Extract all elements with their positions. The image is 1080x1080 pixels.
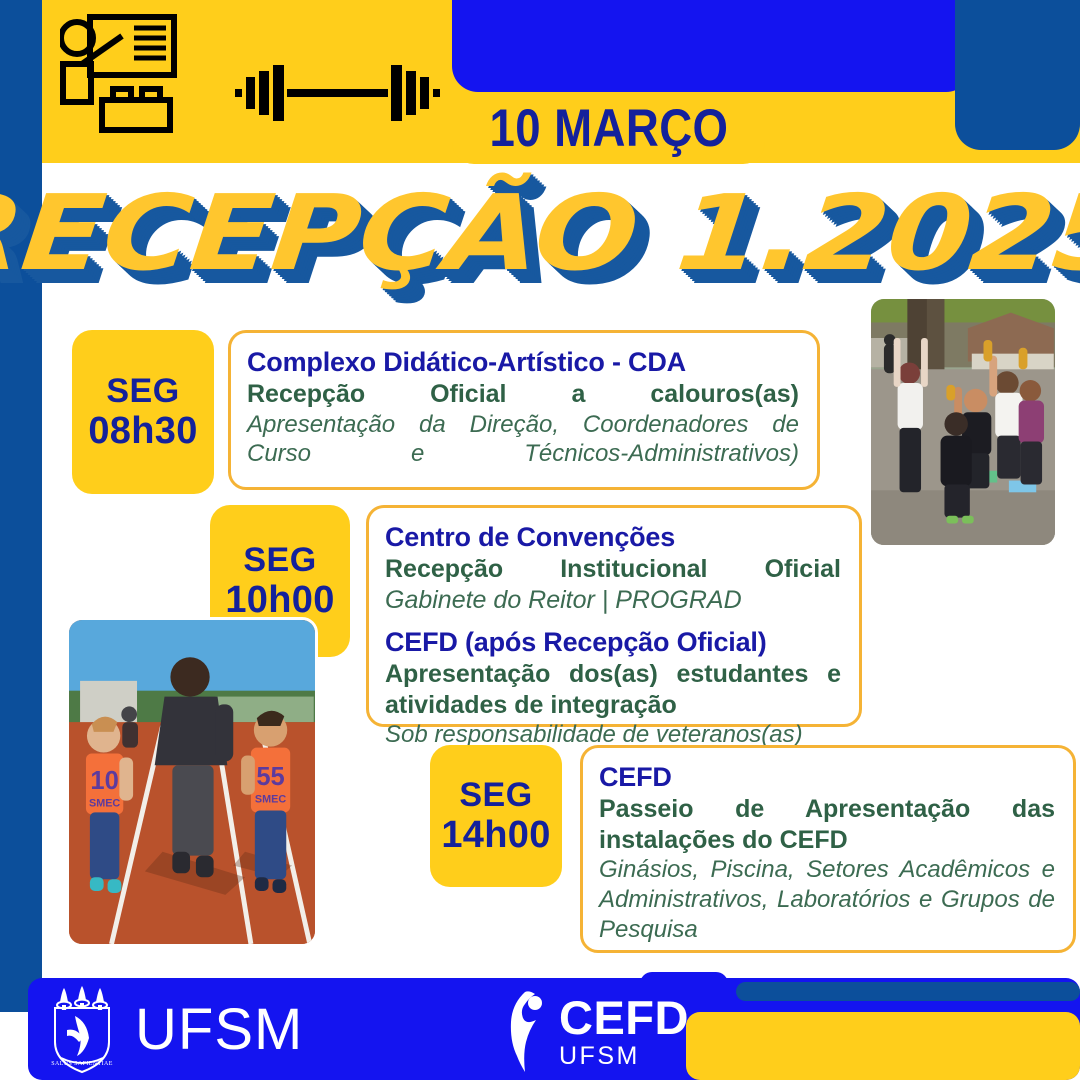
time-badge-1: SEG 08h30 (72, 330, 214, 494)
event-card-2: Centro de Convenções Recepção Institucio… (366, 505, 862, 727)
page-title: RECEPÇÃO 1.2025 (0, 172, 1080, 294)
ufsm-logo-lockup: SALUS SAPIENTIAE UFSM (45, 986, 375, 1074)
footer-dark-pill (736, 982, 1080, 1001)
card-block-divider (385, 615, 841, 627)
photo-outdoor-exercise (868, 296, 1058, 548)
poster-title-wrap: RECEPÇÃO 1.2025 (0, 172, 1080, 294)
ufsm-crest-icon: SALUS SAPIENTIAE (45, 986, 119, 1074)
event-heading-1: Complexo Didático-Artístico - CDA (247, 347, 799, 377)
svg-text:10: 10 (90, 767, 118, 795)
svg-text:SMEC: SMEC (89, 798, 120, 810)
poster-root: 10 MARÇO RECEPÇÃO 1.2025 SEG 08h30 Compl… (0, 0, 1080, 1080)
time-badge-3: SEG 14h00 (430, 745, 562, 887)
badge-time-1: 08h30 (88, 410, 197, 453)
date-label: 10 MARÇO (489, 98, 728, 159)
cefd-athlete-icon (495, 988, 549, 1074)
ufsm-wordmark: UFSM (135, 1001, 303, 1059)
event-heading-2b: CEFD (após Recepção Oficial) (385, 627, 841, 657)
badge-day-3: SEG (459, 776, 532, 814)
event-card-1: Complexo Didático-Artístico - CDA Recepç… (228, 330, 820, 490)
svg-text:SMEC: SMEC (255, 794, 286, 806)
cefd-logo-lockup: CEFD UFSM (495, 988, 755, 1074)
event-lead-3: Passeio de Apresentação das instalações … (599, 794, 1055, 855)
date-chip: 10 MARÇO (452, 92, 765, 164)
dumbbell-icon (235, 62, 440, 124)
cefd-subtitle: UFSM (559, 1044, 689, 1069)
event-note-3: Ginásios, Piscina, Setores Acadêmicos e … (599, 855, 1055, 944)
photo-running-track: 10 SMEC 55 SMEC (66, 617, 318, 947)
header-blue-square (955, 0, 1080, 150)
cefd-text-block: CEFD UFSM (559, 994, 689, 1069)
event-card-3: CEFD Passeio de Apresentação das instala… (580, 745, 1076, 953)
event-lead-2a-text: Recepção Institucional Oficial (385, 555, 841, 583)
event-heading-3: CEFD (599, 762, 1055, 792)
cefd-wordmark: CEFD (559, 994, 689, 1041)
badge-time-3: 14h00 (441, 814, 550, 857)
event-inline-note-2a: Gabinete do Reitor | PROGRAD (385, 586, 742, 614)
presentation-board-icon (60, 12, 210, 137)
left-accent-bar (0, 0, 42, 1012)
event-lead-2a: Recepção Institucional Oficial Gabinete … (385, 554, 841, 615)
badge-time-2: 10h00 (225, 579, 334, 622)
badge-day-1: SEG (106, 372, 179, 410)
svg-text:55: 55 (256, 763, 284, 791)
event-lead-1: Recepção Oficial a calouros(as) (247, 379, 799, 410)
header-blue-panel (452, 0, 972, 92)
svg-text:SALUS SAPIENTIAE: SALUS SAPIENTIAE (51, 1061, 113, 1067)
event-note-1: Apresentação da Direção, Coordenadores d… (247, 410, 799, 470)
event-lead-2b: Apresentação dos(as) estudantes e ativid… (385, 659, 841, 720)
badge-day-2: SEG (243, 541, 316, 579)
event-heading-2a: Centro de Convenções (385, 522, 841, 552)
